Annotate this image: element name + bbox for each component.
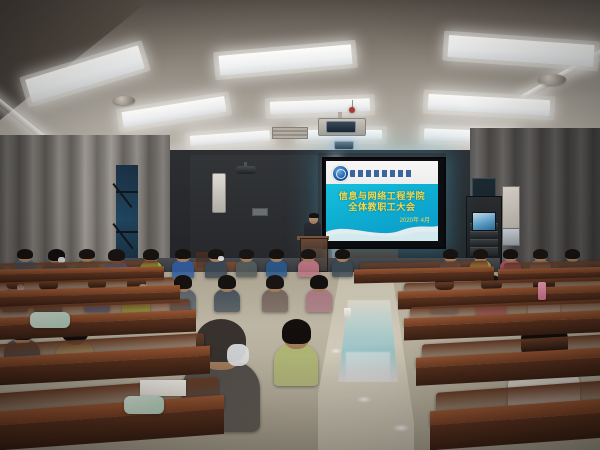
slide-date: 2020年 4月	[400, 215, 430, 224]
plastic-bag	[124, 396, 164, 414]
white-paper	[140, 380, 186, 396]
person-hair	[473, 249, 488, 259]
person-hair	[269, 249, 284, 259]
audience-member	[274, 320, 318, 390]
wall-control-panel-lower[interactable]	[502, 228, 520, 246]
person-hair	[218, 275, 236, 289]
lecture-hall-photo: 信息与网络工程学院 全体教职工大会 2020年 4月	[0, 0, 600, 450]
slide-title-line-2: 全体教职工大会	[326, 200, 438, 213]
audience-member	[306, 276, 332, 320]
pink-bottle	[538, 282, 546, 300]
person-hair	[443, 249, 458, 259]
wall-speaker-icon	[212, 173, 226, 213]
person-hair	[175, 249, 191, 259]
floor-light-spot-3	[330, 348, 342, 354]
floor-light-spot	[356, 396, 372, 403]
audience-member	[214, 276, 240, 320]
person-hair	[239, 249, 254, 259]
audience-member	[332, 250, 353, 287]
person-hair	[79, 249, 95, 259]
person-hair	[565, 249, 580, 259]
audience-member	[262, 276, 288, 320]
camera-icon	[236, 166, 256, 174]
person-body	[214, 289, 240, 312]
person-hair	[17, 249, 33, 259]
projector-indicator	[334, 141, 354, 150]
ceiling-speaker-right	[538, 74, 566, 85]
tote-bag	[30, 312, 70, 328]
face-mask	[218, 256, 224, 261]
screen-reflection-lower	[346, 352, 390, 382]
ceiling-speaker-left	[113, 96, 135, 105]
person-hair	[533, 249, 548, 259]
institution-name-text	[350, 170, 412, 177]
person-hair	[503, 249, 518, 259]
wall-outlet-plate	[252, 208, 268, 216]
face-mask	[227, 344, 249, 366]
person-hair	[310, 275, 328, 289]
floor-light-spot-2	[392, 424, 410, 432]
rack-control-monitor[interactable]	[472, 212, 496, 231]
person-body	[306, 289, 332, 312]
person-hair	[335, 249, 350, 259]
person-hair	[266, 275, 284, 289]
person-body	[262, 289, 288, 312]
projection-screen: 信息与网络工程学院 全体教职工大会 2020年 4月	[326, 161, 438, 241]
air-vent	[272, 127, 308, 139]
person-hair	[108, 249, 125, 261]
person-hair	[143, 249, 159, 260]
university-crest-inner-ring	[336, 169, 346, 179]
presenter-hair	[309, 213, 319, 218]
person-hair	[301, 249, 316, 259]
person-body	[274, 344, 318, 386]
person-body	[332, 260, 353, 277]
paper-cup	[344, 308, 351, 318]
projector-lens-icon	[326, 121, 356, 133]
smoke-detector-icon	[349, 107, 355, 113]
person-hair	[282, 319, 311, 344]
person-body	[236, 260, 257, 277]
